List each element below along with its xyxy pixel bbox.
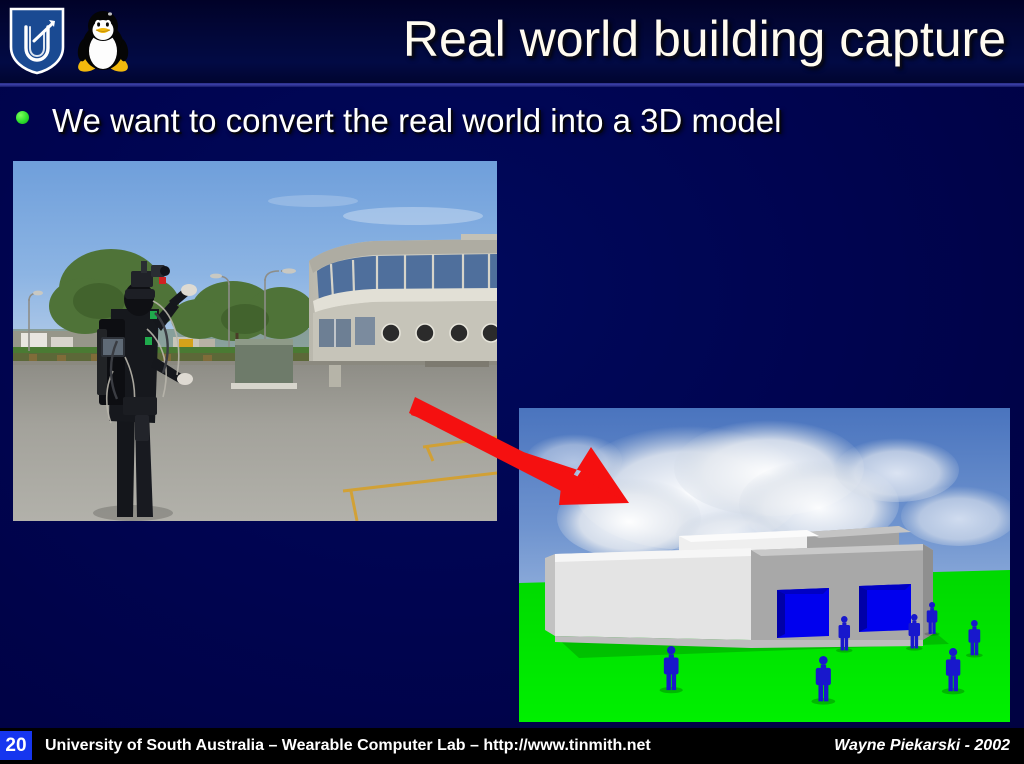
university-of-south-australia-shield-icon <box>8 7 66 75</box>
header-divider-rule <box>0 83 1024 87</box>
presentation-slide: Real world building capture We want to c… <box>0 0 1024 764</box>
footer-author-text: Wayne Piekarski - 2002 <box>834 732 1010 760</box>
slide-footer: 20 University of South Australia – Weara… <box>0 728 1024 764</box>
bullet-item-label: We want to convert the real world into a… <box>52 98 781 143</box>
render-scene <box>519 408 1010 722</box>
bullet-marker-icon <box>16 111 29 124</box>
footer-affiliation-text: University of South Australia – Wearable… <box>45 732 651 760</box>
three-d-model-render <box>519 408 1010 722</box>
bullet-list-item: We want to convert the real world into a… <box>0 98 1024 144</box>
linux-tux-penguin-icon <box>72 9 134 75</box>
real-world-photograph <box>13 161 497 521</box>
photograph-scene <box>13 161 497 521</box>
page-title: Real world building capture <box>403 8 1006 70</box>
page-number-badge: 20 <box>0 731 32 760</box>
